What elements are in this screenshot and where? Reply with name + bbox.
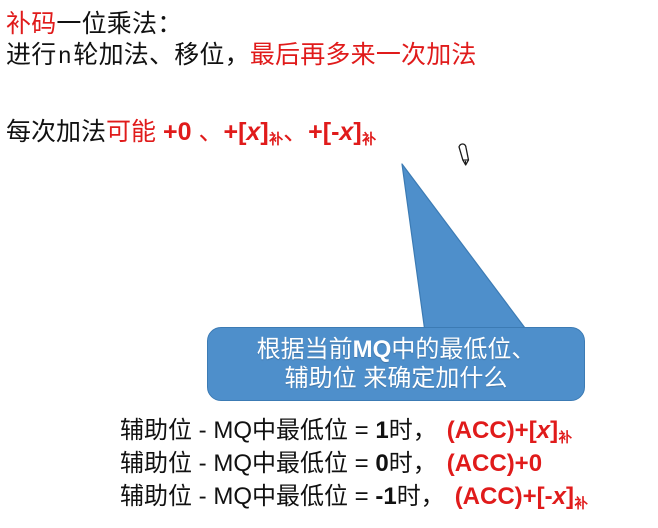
rule-2-result: (ACC)+0 [437, 450, 543, 477]
rule-2-condition-prefix: 辅助位 - MQ中最低位 = [120, 450, 375, 477]
rule-3-result-main: (ACC)+[- [455, 483, 553, 510]
callout-line-1-part-a: 根据当前 [257, 336, 353, 363]
add-line-sep-1: 、 [192, 118, 224, 146]
add-line-red-maybe: 可能 [106, 118, 156, 146]
rule-row-1: 辅助位 - MQ中最低位 = 1时，(ACC)+[x]补 [120, 415, 650, 448]
add-line-negx-subscript: 补 [362, 131, 377, 147]
heading-line-2: 进行n轮加法、移位，最后再多来一次加法 [6, 41, 646, 71]
rules-list: 辅助位 - MQ中最低位 = 1时，(ACC)+[x]补 辅助位 - MQ中最低… [120, 415, 650, 514]
heading-line-1-red: 补码 [6, 10, 56, 38]
rule-row-2: 辅助位 - MQ中最低位 = 0时，(ACC)+0 [120, 448, 650, 481]
rule-3-result-subscript: 补 [574, 496, 588, 511]
add-operation-line: 每次加法可能 +0 、+[x]补、+[-x]补 [6, 117, 376, 148]
rule-row-3: 辅助位 - MQ中最低位 = -1时，(ACC)+[-x]补 [120, 481, 650, 514]
rule-2-result-main: (ACC)+0 [447, 450, 542, 477]
rule-1-condition-value: 1 [375, 417, 388, 444]
rule-3-condition-prefix: 辅助位 - MQ中最低位 = [120, 483, 375, 510]
rule-1-result-main: (ACC)+[ [447, 417, 537, 444]
rule-1-result-close: ] [550, 417, 558, 444]
callout-tail [395, 160, 540, 335]
add-line-sep-1-text: 、 [198, 118, 223, 146]
heading-line-2-middle: 轮加法、移位， [73, 41, 249, 69]
add-line-plus-x-open: +[ [223, 118, 246, 146]
heading-line-1: 补码一位乘法： [6, 10, 646, 40]
callout-bubble: 根据当前MQ中的最低位、 辅助位 来确定加什么 [207, 327, 585, 401]
heading-line-2-n: n [56, 42, 73, 68]
rule-1-result: (ACC)+[x]补 [437, 417, 572, 444]
add-line-prefix: 每次加法 [6, 118, 106, 146]
add-line-x-close: ] [260, 118, 268, 146]
add-line-plus-x: +[x]补 [223, 118, 283, 146]
rule-2-condition-value: 0 [375, 450, 388, 477]
heading-block: 补码一位乘法： 进行n轮加法、移位，最后再多来一次加法 [6, 10, 646, 70]
rule-2-condition-suffix: 时， [389, 450, 437, 477]
callout-line-2: 辅助位 来确定加什么 [285, 364, 508, 393]
add-line-sep-2: 、 [283, 118, 308, 146]
add-line-plus-neg-x: +[-x]补 [308, 118, 376, 146]
rule-3-condition-value: -1 [375, 483, 396, 510]
rule-1-result-subscript: 补 [558, 430, 572, 445]
add-line-plus-zero: +0 [156, 118, 191, 146]
callout-line-1: 根据当前MQ中的最低位、 [257, 335, 536, 364]
add-line-x-subscript: 补 [269, 131, 284, 147]
heading-line-2-red: 最后再多来一次加法 [250, 41, 477, 69]
callout-line-1-mq: MQ [353, 336, 392, 363]
rule-3-result: (ACC)+[-x]补 [445, 483, 588, 510]
add-line-negx-open: +[- [308, 118, 339, 146]
rule-2-result-subscript [542, 463, 543, 478]
rule-3-condition-suffix: 时， [397, 483, 445, 510]
slide-canvas: 补码一位乘法： 进行n轮加法、移位，最后再多来一次加法 每次加法可能 +0 、+… [0, 0, 658, 528]
rule-1-result-var: x [537, 417, 550, 444]
add-line-plus-zero-text: +0 [163, 118, 192, 146]
add-line-negx-symbol: x [339, 118, 353, 146]
rule-3-result-var: x [553, 483, 566, 510]
heading-line-1-black: 一位乘法： [56, 10, 182, 38]
add-line-negx-close: ] [353, 118, 361, 146]
rule-1-condition-suffix: 时， [389, 417, 437, 444]
add-line-x-symbol: x [246, 118, 260, 146]
heading-line-2-prefix: 进行 [6, 41, 56, 69]
rule-1-condition-prefix: 辅助位 - MQ中最低位 = [120, 417, 375, 444]
rule-3-result-close: ] [566, 483, 574, 510]
callout-line-1-part-b: 中的最低位、 [391, 336, 535, 363]
